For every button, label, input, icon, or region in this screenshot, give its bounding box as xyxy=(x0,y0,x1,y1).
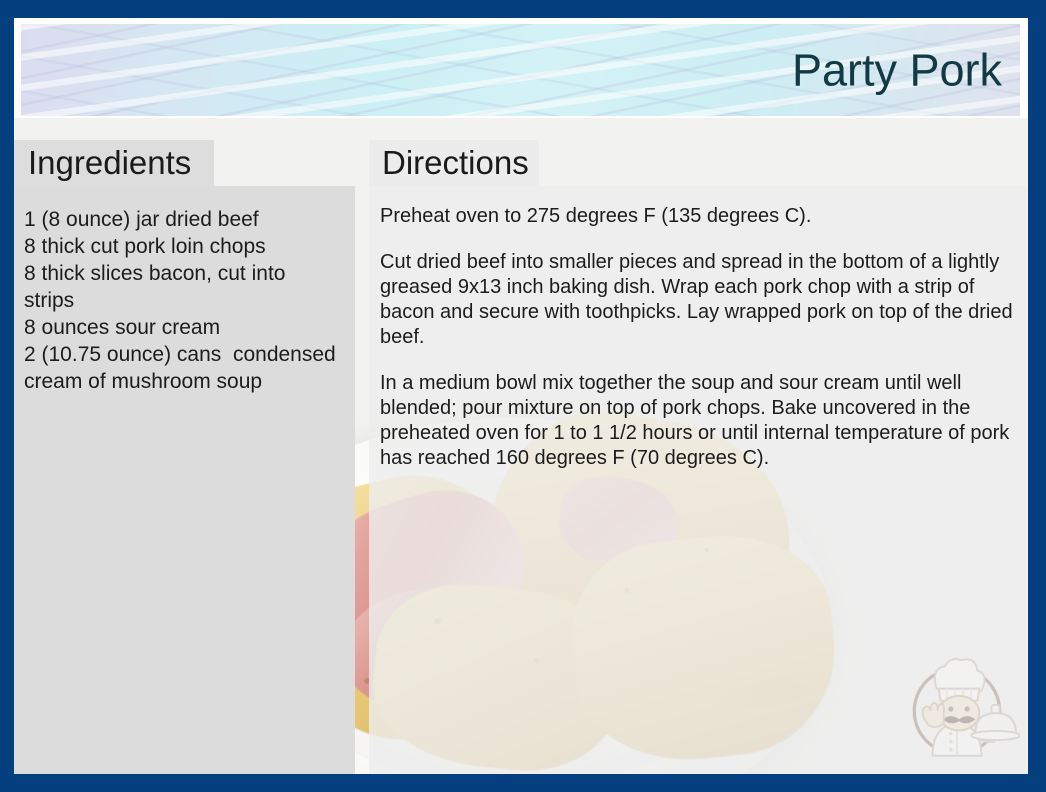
ingredient-line: 2 (10.75 ounce) cans condensed xyxy=(24,341,354,368)
title-banner: Party Pork xyxy=(21,24,1020,116)
ingredients-list: 1 (8 ounce) jar dried beef8 thick cut po… xyxy=(24,206,354,395)
ingredient-line: 8 thick cut pork loin chops xyxy=(24,233,354,260)
directions-heading: Directions xyxy=(382,146,529,179)
directions-paragraph: In a medium bowl mix together the soup a… xyxy=(380,371,1026,471)
page-title: Party Pork xyxy=(792,48,1002,93)
card-sheet: Party Pork Ingredients 1 (8 ounce) jar d… xyxy=(14,18,1028,774)
chef-mascot-logo xyxy=(898,646,1020,768)
chef-waving-hand-icon xyxy=(923,703,944,727)
chef-face-icon xyxy=(939,696,980,731)
directions-body: Preheat oven to 275 degrees F (135 degre… xyxy=(380,204,1026,492)
directions-paragraph: Cut dried beef into smaller pieces and s… xyxy=(380,250,1026,350)
directions-paragraph: Preheat oven to 275 degrees F (135 degre… xyxy=(380,204,1026,229)
ingredient-line: 8 thick slices bacon, cut into xyxy=(24,260,354,287)
ingredient-line: 8 ounces sour cream xyxy=(24,314,354,341)
ingredient-line: cream of mushroom soup xyxy=(24,368,354,395)
ingredient-line: 1 (8 ounce) jar dried beef xyxy=(24,206,354,233)
ingredients-heading: Ingredients xyxy=(28,146,191,179)
recipe-card: Party Pork Ingredients 1 (8 ounce) jar d… xyxy=(0,0,1046,792)
ingredient-line: strips xyxy=(24,287,354,314)
chef-hat-icon xyxy=(935,659,985,701)
